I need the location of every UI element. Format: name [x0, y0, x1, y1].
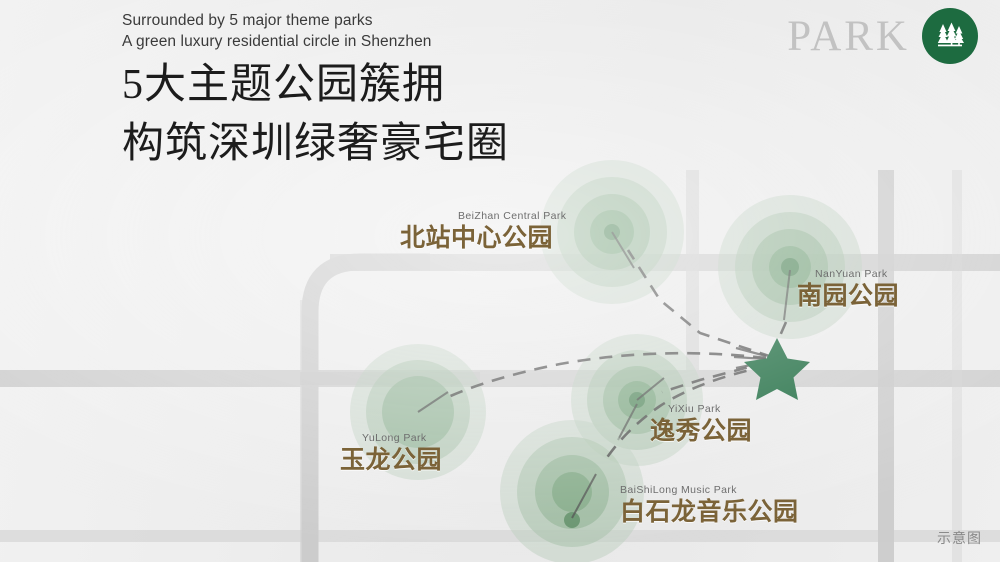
park-label-yixiu-park[interactable]: YiXiu Park 逸秀公园: [650, 403, 752, 446]
park-label-en: BeiZhan Central Park: [400, 210, 566, 223]
park-label-en: NanYuan Park: [797, 268, 899, 281]
brand-logo[interactable]: PARK: [787, 8, 978, 64]
park-label-beizhan-central-park[interactable]: BeiZhan Central Park 北站中心公园: [400, 210, 566, 253]
subtitle-line-2: A green luxury residential circle in She…: [122, 31, 742, 52]
headline-line-2: 构筑深圳绿奢豪宅圈: [122, 119, 742, 170]
pine-trees-icon: [932, 18, 968, 54]
logo-badge: [922, 8, 978, 64]
park-label-yulong-park[interactable]: YuLong Park 玉龙公园: [340, 432, 442, 475]
park-label-en: BaiShiLong Music Park: [620, 484, 799, 497]
header-block: Surrounded by 5 major theme parks A gree…: [122, 10, 742, 170]
park-label-cn: 逸秀公园: [650, 416, 752, 446]
headline-line-1: 5大主题公园簇拥: [122, 60, 742, 111]
park-label-cn: 北站中心公园: [400, 223, 566, 253]
park-label-cn: 南园公园: [797, 281, 899, 311]
footnote-disclaimer: 示意图: [937, 528, 982, 548]
park-label-baishilong-music-park[interactable]: BaiShiLong Music Park 白石龙音乐公园: [620, 484, 799, 527]
park-label-en: YiXiu Park: [650, 403, 752, 416]
park-label-nanyuan-park[interactable]: NanYuan Park 南园公园: [797, 268, 899, 311]
subtitle-line-1: Surrounded by 5 major theme parks: [122, 10, 742, 31]
park-label-cn: 玉龙公园: [340, 445, 442, 475]
park-label-en: YuLong Park: [340, 432, 442, 445]
slide-canvas: Surrounded by 5 major theme parks A gree…: [0, 0, 1000, 562]
logo-wordmark: PARK: [787, 15, 910, 58]
park-label-cn: 白石龙音乐公园: [620, 497, 799, 527]
